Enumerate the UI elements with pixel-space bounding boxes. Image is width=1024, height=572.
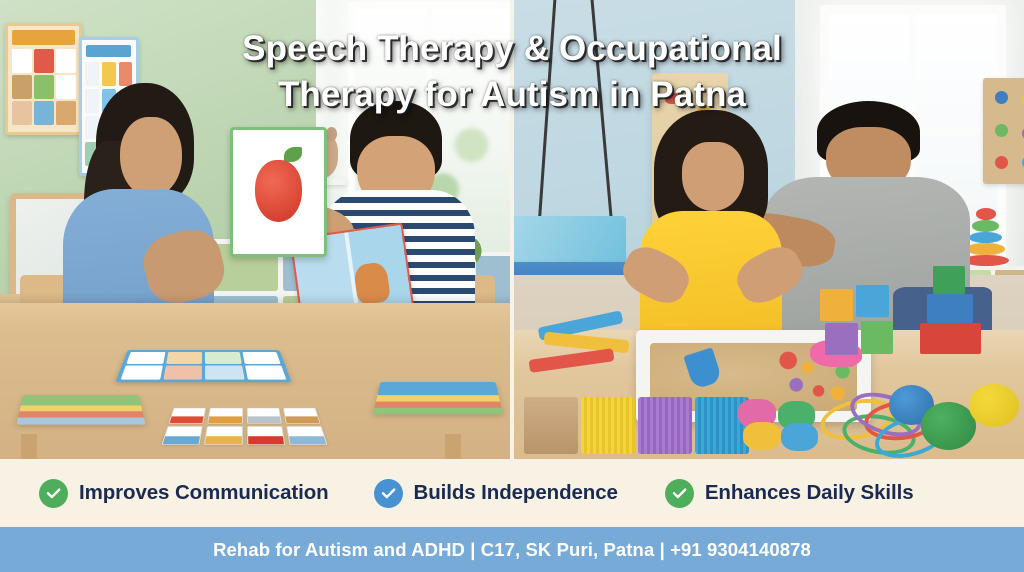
- play-dough-pieces: [738, 399, 820, 449]
- stacking-blocks-small: [820, 285, 902, 358]
- textured-mat-set: [524, 390, 748, 454]
- child-girl-figure: [626, 110, 799, 340]
- contact-text: Rehab for Autism and ADHD | C17, SK Puri…: [213, 539, 811, 561]
- picture-card-set: [162, 408, 328, 445]
- feature-bar: Improves Communication Builds Independen…: [0, 459, 1024, 527]
- feature-item-improves-communication: Improves Communication: [39, 479, 329, 508]
- feature-item-enhances-daily-skills: Enhances Daily Skills: [665, 479, 914, 508]
- promo-banner: Speech Therapy & Occupational Therapy fo…: [0, 0, 1024, 572]
- feature-label: Builds Independence: [414, 481, 618, 505]
- feature-item-builds-independence: Builds Independence: [374, 479, 618, 508]
- banner-title: Speech Therapy & Occupational Therapy fo…: [0, 26, 1024, 117]
- check-circle-icon: [39, 479, 68, 508]
- title-line-1: Speech Therapy & Occupational: [80, 26, 944, 72]
- check-circle-icon: [665, 479, 694, 508]
- therapy-tongs-set: [524, 317, 636, 377]
- book-stack-left: [17, 395, 147, 425]
- contact-bar: Rehab for Autism and ADHD | C17, SK Puri…: [0, 527, 1024, 572]
- book-stack-right: [373, 382, 503, 415]
- pecs-communication-board: [116, 350, 292, 382]
- check-circle-icon: [374, 479, 403, 508]
- feature-label: Improves Communication: [79, 481, 329, 505]
- feature-label: Enhances Daily Skills: [705, 481, 914, 505]
- title-line-2: Therapy for Autism in Patna: [80, 72, 944, 118]
- spiky-sensory-balls: [886, 381, 1019, 454]
- apple-flashcard-icon: [230, 127, 328, 257]
- stacking-blocks-tall: [917, 266, 988, 358]
